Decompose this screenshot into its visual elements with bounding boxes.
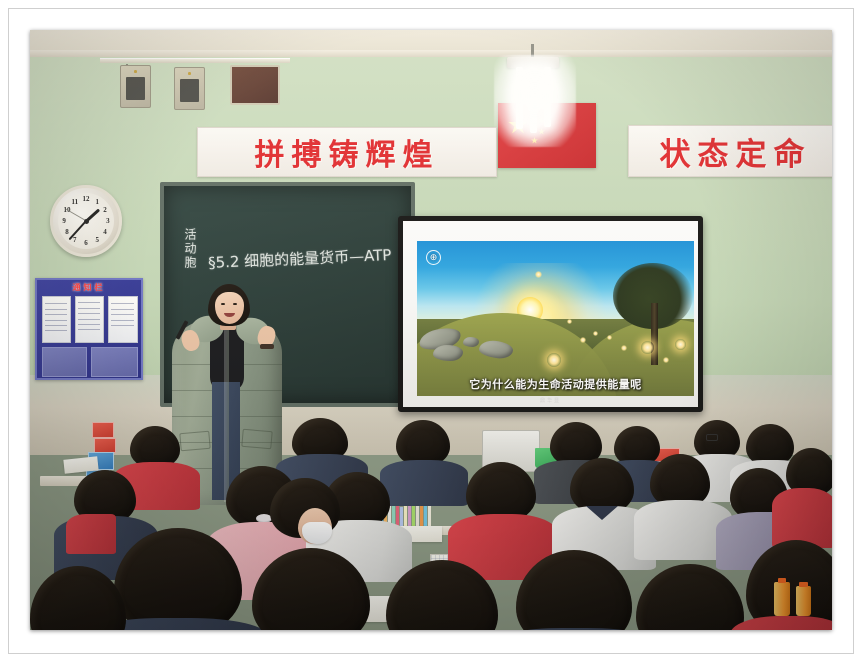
student-head [636, 564, 744, 630]
teacher-wristwatch [260, 344, 274, 349]
blackboard-heading: §5.2 细胞的能量货币—ATP [208, 244, 392, 273]
teacher-coat-pocket [179, 431, 210, 452]
student-body [380, 460, 468, 506]
wall-panel [230, 65, 280, 105]
wall-trim [30, 50, 832, 57]
clock-center-pin [84, 219, 89, 224]
bulletin-board: 通知栏 [35, 278, 143, 380]
lamp-glow [494, 55, 576, 147]
bulletin-sheet [108, 296, 138, 343]
banner-right-text: 状态定命 [660, 129, 812, 174]
slide-light-particle [663, 357, 669, 363]
classroom-photograph: 12 1 2 3 4 5 6 7 8 9 10 11 拼搏铸辉煌 [30, 30, 832, 630]
smartboard-brand-label: 鼎华显 [403, 397, 698, 404]
speaker-screw-icon [134, 70, 137, 73]
wall-clock: 12 1 2 3 4 5 6 7 8 9 10 11 [50, 185, 122, 257]
speaker-screw-icon [188, 72, 191, 75]
student-body [492, 628, 658, 630]
bulletin-sheet [42, 296, 71, 343]
bulletin-photo-cell [42, 347, 87, 377]
drink-bottle [796, 586, 811, 616]
student-head [466, 462, 536, 522]
storage-box [94, 438, 116, 453]
speaker-grille-icon [126, 77, 145, 101]
slide-tree-trunk [651, 303, 658, 365]
eyeglasses-icon [706, 434, 718, 441]
slide-light-particle [607, 335, 612, 340]
clock-numeral: 7 [73, 236, 77, 244]
student-body [66, 514, 116, 554]
banner-left: 拼搏铸辉煌 [197, 127, 497, 177]
drink-bottle [774, 582, 790, 616]
clock-numeral: 5 [95, 236, 99, 244]
bottle-cap [799, 582, 807, 587]
bulletin-board-title: 通知栏 [37, 282, 141, 293]
slide-light-particle [547, 353, 561, 367]
banner-right: 状态定命 [628, 125, 832, 177]
teacher-coat-placket [224, 330, 229, 502]
slide-watermark-logo-icon: ⊕ [426, 250, 441, 265]
bottle-cap [778, 578, 787, 583]
slide-subtitle: 它为什么能为生命活动提供能量呢 [417, 376, 694, 392]
slide-rock [463, 337, 479, 347]
clock-face: 12 1 2 3 4 5 6 7 8 9 10 11 [58, 193, 114, 249]
clock-numeral: 12 [83, 195, 90, 203]
clock-numeral: 3 [106, 217, 110, 225]
clock-second-hand [65, 209, 86, 222]
slide-light-particle [567, 319, 572, 324]
slide-light-particle [580, 337, 586, 343]
wall-rail [100, 58, 290, 63]
student-body [730, 616, 832, 630]
teacher-coat-pocket [241, 429, 272, 450]
wall-speaker [174, 67, 205, 110]
clock-numeral: 8 [65, 228, 69, 236]
banner-left-text: 拼搏铸辉煌 [255, 130, 440, 174]
slide-light-particle [593, 331, 598, 336]
slide-light-particle [675, 339, 686, 350]
clock-numeral: 6 [84, 239, 88, 247]
speaker-grille-icon [180, 79, 199, 103]
slide-light-particle [621, 345, 627, 351]
clock-numeral: 9 [62, 217, 66, 225]
clock-numeral: 2 [103, 206, 107, 214]
projected-slide: ⊕ 它为什么能为生命活动提供能量呢 [417, 241, 694, 396]
interactive-smartboard[interactable]: ⊕ 它为什么能为生命活动提供能量呢 鼎华显 [398, 216, 703, 412]
bulletin-sheet [75, 296, 104, 343]
storage-box [92, 422, 114, 438]
slide-light-particle [641, 341, 654, 354]
clock-numeral: 4 [103, 228, 107, 236]
student-body [772, 488, 832, 548]
clock-numeral: 11 [71, 198, 78, 206]
slide-light-particle [535, 271, 542, 278]
blackboard-vertical-note: 活动胞 [182, 228, 199, 270]
wall-speaker [120, 65, 151, 108]
slide-rock [433, 345, 463, 361]
bulletin-photo-cell [91, 347, 138, 377]
clock-numeral: 1 [95, 198, 99, 206]
photo-frame: 12 1 2 3 4 5 6 7 8 9 10 11 拼搏铸辉煌 [0, 0, 864, 664]
